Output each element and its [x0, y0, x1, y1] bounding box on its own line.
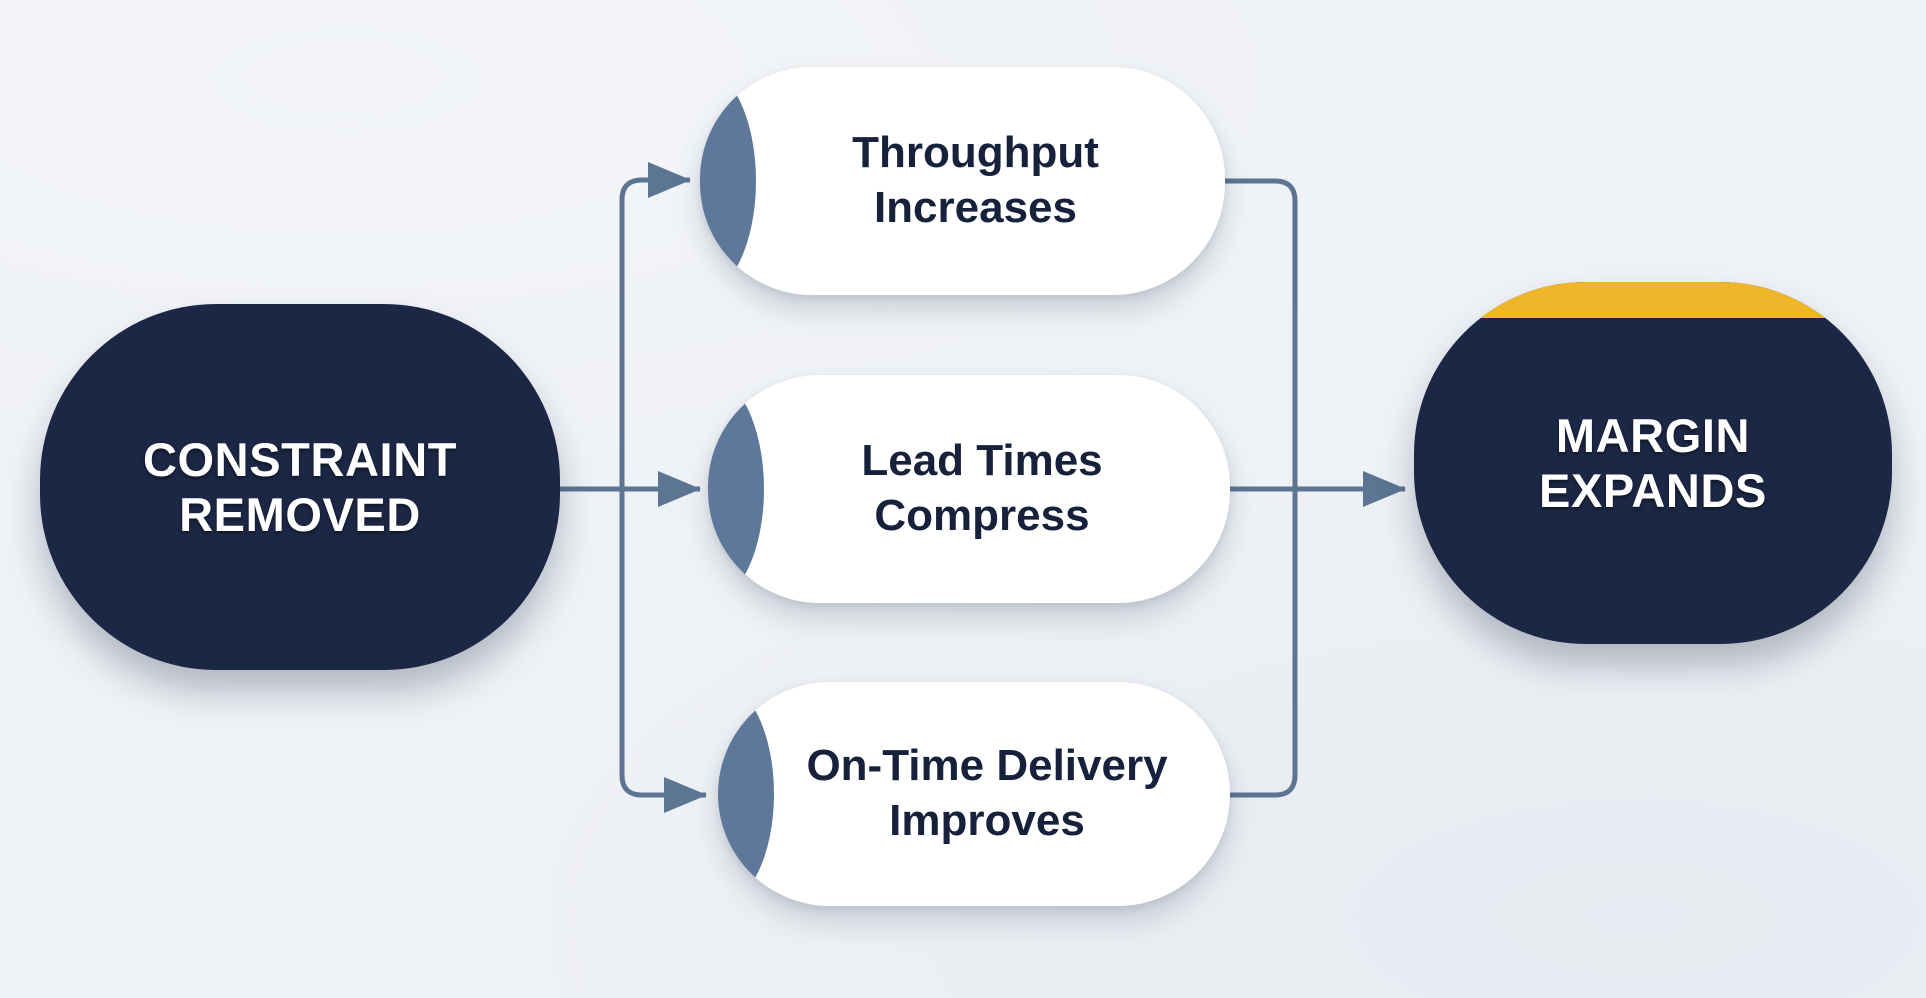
edge-on-time-delivery-to-margin [1230, 489, 1295, 795]
node-throughput-increases-line2: Increases [852, 181, 1099, 236]
node-throughput-increases-line1: Throughput [852, 126, 1099, 181]
node-constraint-removed-line1: CONSTRAINT [143, 432, 457, 487]
node-lead-times-compress-line1: Lead Times [861, 434, 1102, 489]
node-throughput-increases[interactable]: Throughput Increases [700, 67, 1225, 295]
node-constraint-removed[interactable]: CONSTRAINT REMOVED [40, 304, 560, 670]
node-on-time-delivery-improves-line2: Improves [806, 794, 1167, 849]
edge-constraint-to-on-time-delivery [622, 489, 706, 795]
node-throughput-increases-label: Throughput Increases [826, 126, 1099, 235]
node-on-time-delivery-improves[interactable]: On-Time Delivery Improves [718, 682, 1230, 906]
edge-constraint-to-throughput [622, 180, 690, 489]
top-accent-bar [1414, 282, 1892, 318]
node-margin-expands[interactable]: MARGIN EXPANDS [1414, 282, 1892, 644]
node-constraint-removed-label: CONSTRAINT REMOVED [143, 432, 457, 543]
left-accent-bar [708, 375, 764, 603]
node-margin-expands-line2: EXPANDS [1539, 463, 1767, 518]
node-margin-expands-line1: MARGIN [1539, 408, 1767, 463]
edge-throughput-to-margin [1225, 181, 1295, 489]
node-on-time-delivery-improves-line1: On-Time Delivery [806, 739, 1167, 794]
node-on-time-delivery-improves-label: On-Time Delivery Improves [780, 739, 1167, 848]
diagram-canvas: CONSTRAINT REMOVED Throughput Increases … [0, 0, 1926, 998]
left-accent-bar [700, 67, 756, 295]
node-margin-expands-label: MARGIN EXPANDS [1539, 408, 1767, 519]
node-constraint-removed-line2: REMOVED [143, 487, 457, 542]
left-accent-bar [718, 682, 774, 906]
node-lead-times-compress-label: Lead Times Compress [835, 434, 1102, 543]
node-lead-times-compress-line2: Compress [861, 489, 1102, 544]
node-lead-times-compress[interactable]: Lead Times Compress [708, 375, 1230, 603]
